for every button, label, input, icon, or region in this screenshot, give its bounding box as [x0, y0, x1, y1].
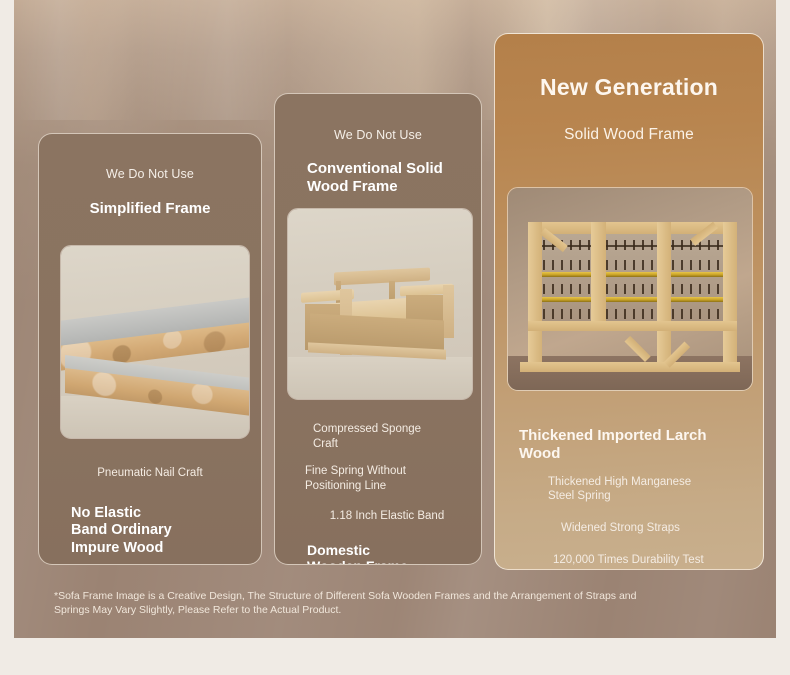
elastic-strap — [603, 272, 659, 277]
frame-post-mid-right — [657, 222, 672, 367]
infographic-root: We Do Not Use Simplified Frame Pneumatic… — [0, 0, 790, 675]
card-1-footline: No Elastic Band Ordinary Impure Wood — [71, 505, 261, 557]
spring-rail — [671, 245, 723, 247]
card-3-bullet-2: Widened Strong Straps — [561, 521, 763, 536]
card-2-bullet-3: 1.18 Inch Elastic Band — [275, 509, 481, 524]
wooden-sofa-frame-photo — [287, 208, 473, 400]
photo-2-floor — [288, 357, 472, 399]
serpentine-spring — [672, 260, 723, 270]
serpentine-spring — [606, 260, 657, 270]
frame-mid-rail — [528, 321, 738, 331]
card-2-kicker: We Do Not Use — [275, 128, 481, 142]
larch-frame-with-springs-photo — [507, 187, 753, 391]
serpentine-spring — [672, 284, 723, 294]
card-2-bullet-1: Compressed Sponge Craft — [313, 422, 481, 451]
card-new-generation-solid-wood-frame[interactable]: New Generation Solid Wood Frame — [494, 33, 764, 570]
card-1-title: Simplified Frame — [39, 200, 261, 218]
serpentine-spring — [672, 309, 723, 319]
card-3-hero-subtitle: Solid Wood Frame — [495, 126, 763, 144]
card-3-hero-title: New Generation — [495, 74, 763, 101]
card-2-footline: Domestic Wooden Frame — [307, 542, 481, 565]
card-3-bullets: Thickened Imported Larch Wood Thickened … — [495, 415, 763, 567]
card-1-bullets: Pneumatic Nail Craft No Elastic Band Ord… — [39, 466, 261, 557]
frame-post-left — [528, 222, 543, 367]
elastic-strap — [540, 297, 596, 302]
comparison-panel: We Do Not Use Simplified Frame Pneumatic… — [14, 0, 776, 638]
spring-rail — [605, 245, 657, 247]
card-3-bullet-3: 120,000 Times Durability Test — [553, 553, 763, 568]
serpentine-spring — [606, 309, 657, 319]
card-1-kicker: We Do Not Use — [39, 167, 261, 181]
serpentine-spring — [606, 284, 657, 294]
disclaimer-note: *Sofa Frame Image is a Creative Design, … — [54, 589, 674, 618]
card-2-bullets: Compressed Sponge Craft Fine Spring With… — [275, 422, 481, 565]
spring-bay-center — [603, 232, 659, 325]
particle-board-slabs-photo — [60, 245, 250, 439]
elastic-strap — [669, 297, 725, 302]
card-2-title: Conventional Solid Wood Frame — [307, 160, 481, 195]
card-3-feature-title: Thickened Imported Larch Wood — [519, 427, 739, 464]
card-3-bullet-1: Thickened High Manganese Steel Spring — [548, 475, 763, 504]
elastic-strap — [669, 272, 725, 277]
frame-post-right — [723, 222, 738, 367]
serpentine-spring — [543, 309, 594, 319]
elastic-strap — [603, 297, 659, 302]
spring-bay-right — [669, 232, 725, 325]
serpentine-spring — [543, 260, 594, 270]
card-simplified-frame[interactable]: We Do Not Use Simplified Frame Pneumatic… — [38, 133, 262, 565]
card-conventional-solid-wood-frame[interactable]: We Do Not Use Conventional Solid Wood Fr… — [274, 93, 482, 565]
elastic-strap — [540, 272, 596, 277]
serpentine-spring — [543, 284, 594, 294]
card-1-bullet-1: Pneumatic Nail Craft — [49, 466, 251, 481]
frame-post-mid-left — [591, 222, 606, 327]
card-2-bullet-2: Fine Spring Without Positioning Line — [305, 464, 481, 493]
frame-bottom-rail — [520, 362, 740, 372]
